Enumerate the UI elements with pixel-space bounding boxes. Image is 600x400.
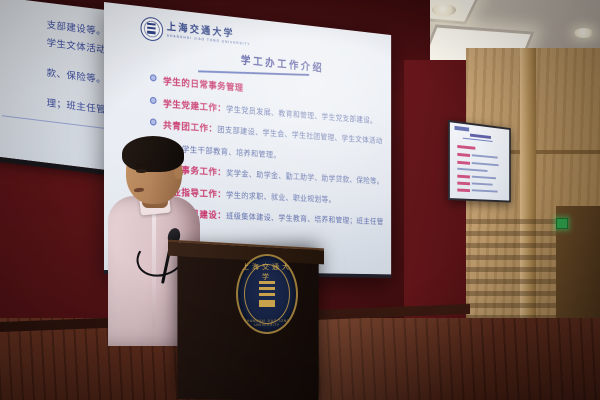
bullet-icon bbox=[150, 96, 157, 103]
side-screen-heading bbox=[457, 145, 475, 149]
bullet-body: 班级集体建设、学生教育、培养和管理；班主任管 bbox=[226, 212, 383, 226]
bullet-body: 学生的求职、就业、职业规划等。 bbox=[226, 190, 335, 203]
side-screen-body bbox=[457, 168, 487, 173]
side-screen-body bbox=[472, 154, 498, 159]
side-screen-heading bbox=[457, 182, 470, 185]
presenter-eye bbox=[136, 169, 147, 173]
floor-light-reflection bbox=[300, 318, 600, 400]
side-monitor-screen bbox=[448, 120, 511, 202]
side-screen-body bbox=[472, 162, 499, 167]
left-screen-line: 款、保险等。 bbox=[47, 65, 106, 86]
side-screen-body bbox=[472, 182, 493, 186]
side-screen-heading bbox=[457, 188, 470, 191]
presentation-room-photo: 支部建设等。 学生文体活动 款、保险等。 理；班主任管 上海交通大学 SHANG… bbox=[0, 0, 600, 400]
side-screen-logo bbox=[455, 126, 470, 132]
bullet-icon bbox=[150, 74, 157, 81]
bullet-icon bbox=[150, 118, 157, 125]
bullet-heading: 共青团工作： bbox=[163, 120, 217, 134]
left-screen-line: 理；班主任管 bbox=[47, 95, 106, 116]
emblem-en-text: SHANGHAI JIAO TONG UNIVERSITY bbox=[238, 319, 296, 327]
side-screen-body bbox=[472, 189, 498, 193]
secondary-projection-screen: 支部建设等。 学生文体活动 款、保险等。 理；班主任管 bbox=[0, 0, 117, 176]
side-screen-heading bbox=[457, 175, 470, 178]
emblem-cn-text: 上海交通大学 bbox=[238, 262, 296, 282]
sjtu-seal-icon bbox=[141, 16, 164, 42]
side-screen-body bbox=[472, 176, 496, 180]
side-screen-heading bbox=[457, 153, 470, 157]
side-screen-heading bbox=[457, 161, 470, 165]
lectern-emblem: 上海交通大学 SHANGHAI JIAO TONG UNIVERSITY bbox=[236, 254, 298, 334]
bullet-heading: 学生党建工作： bbox=[163, 98, 226, 113]
presenter-hair bbox=[122, 136, 184, 172]
left-screen-rule bbox=[2, 115, 108, 129]
emblem-device-icon bbox=[259, 281, 275, 307]
university-logo: 上海交通大学 SHANGHAI JIAO TONG UNIVERSITY bbox=[141, 16, 251, 51]
bullet-body: 奖学金、助学金、勤工助学、助学贷款、保险等。 bbox=[226, 169, 383, 186]
bullet-heading: 学生的日常事务管理 bbox=[163, 76, 243, 93]
emergency-exit-icon bbox=[556, 218, 568, 229]
left-screen-line: 学生文体活动 bbox=[47, 35, 106, 56]
